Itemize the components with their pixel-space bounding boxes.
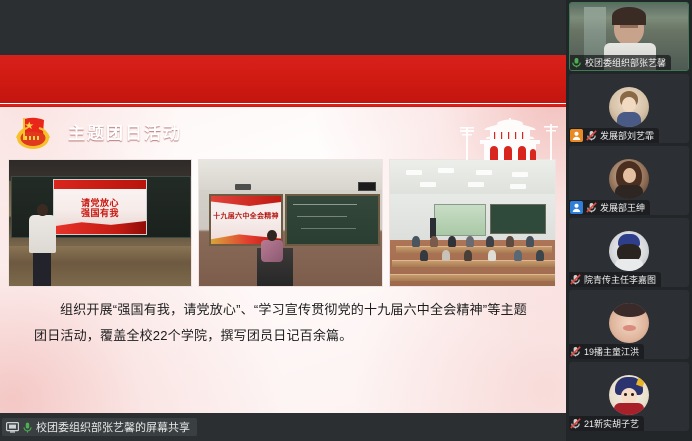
- participant-name: 校团委组织部张艺馨: [585, 56, 666, 69]
- photo1-screen-line1: 请党放心: [54, 198, 146, 208]
- screen-share-icon: [6, 422, 19, 433]
- communist-youth-league-emblem: [8, 113, 58, 151]
- participant-footer: 发展部王绅: [569, 200, 650, 215]
- page-title: 主题团日活动: [68, 119, 182, 144]
- microphone-muted-icon: [586, 202, 597, 213]
- photo1-screen-line2: 强国有我: [54, 208, 146, 218]
- microphone-icon: [23, 422, 32, 433]
- slide-header-band: [0, 55, 566, 103]
- slide-body-text: 组织开展“强国有我，请党放心”、“学习宣传贯彻党的十九届六中全会精神”等主题团日…: [34, 297, 534, 349]
- participant-tile[interactable]: 发展部刘艺霏: [569, 74, 689, 143]
- microphone-muted-icon: [570, 418, 581, 429]
- participant-name: 21新实胡子艺: [584, 417, 639, 430]
- microphone-muted-icon: [570, 274, 581, 285]
- presentation-slide: 主题团日活动 请党放心 强国有我: [0, 55, 566, 413]
- avatar: [609, 375, 649, 415]
- avatar: [609, 87, 649, 127]
- avatar: [609, 231, 649, 271]
- photo-gallery: 请党放心 强国有我: [8, 159, 558, 287]
- participant-footer: 院青传主任李嘉图: [569, 272, 661, 287]
- participant-name: 发展部王绅: [600, 201, 645, 214]
- avatar: [609, 159, 649, 199]
- tiananmen-gate-graphic: [454, 110, 566, 160]
- co-host-badge-icon: [570, 201, 583, 214]
- microphone-muted-icon: [570, 346, 581, 357]
- photo2-screen-text: 十九届六中全会精神: [211, 211, 281, 221]
- participant-footer: 发展部刘艺霏: [569, 128, 659, 143]
- participant-tile[interactable]: 19播主童江洪: [569, 290, 689, 359]
- participant-footer: 21新实胡子艺: [569, 416, 644, 431]
- participant-tile[interactable]: 校团委组织部张艺馨: [569, 2, 689, 71]
- photo-lecturer-presentation: 请党放心 强国有我: [8, 159, 192, 287]
- photo-lecture-hall-students: [389, 159, 556, 287]
- host-badge-icon: [570, 129, 583, 142]
- participant-name: 19播主童江洪: [584, 345, 639, 358]
- photo-classroom-blackboard: 十九届六中全会精神: [198, 159, 383, 287]
- participant-footer: 校团委组织部张艺馨: [570, 55, 671, 70]
- share-status-text: 校团委组织部张艺馨的屏幕共享: [36, 419, 190, 435]
- participant-tile[interactable]: 21新实胡子艺: [569, 362, 689, 431]
- avatar: [609, 303, 649, 343]
- share-status-label-box: 校团委组织部张艺馨的屏幕共享: [2, 418, 197, 436]
- participant-name: 发展部刘艺霏: [600, 129, 654, 142]
- shared-screen-stage[interactable]: 主题团日活动 请党放心 强国有我: [0, 0, 566, 441]
- participant-footer: 19播主童江洪: [569, 344, 644, 359]
- participant-tile[interactable]: 院青传主任李嘉图: [569, 218, 689, 287]
- participant-name: 院青传主任李嘉图: [584, 273, 656, 286]
- microphone-muted-icon: [586, 130, 597, 141]
- microphone-icon: [571, 57, 582, 68]
- slide-header-underline: [0, 103, 566, 107]
- meeting-window: 主题团日活动 请党放心 强国有我: [0, 0, 692, 441]
- share-status-bar: 校团委组织部张艺馨的屏幕共享: [0, 413, 566, 441]
- participant-tile[interactable]: 发展部王绅: [569, 146, 689, 215]
- participant-video-strip[interactable]: 校团委组织部张艺馨: [566, 0, 692, 441]
